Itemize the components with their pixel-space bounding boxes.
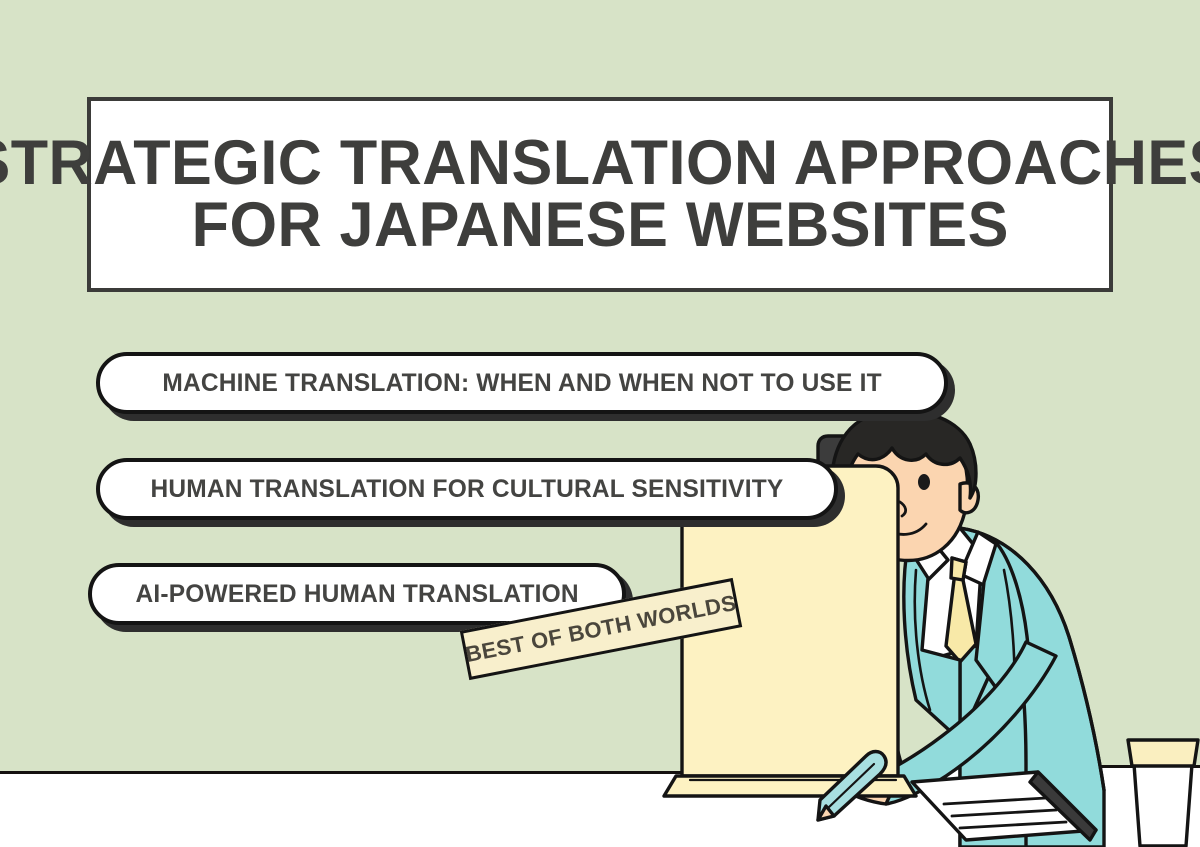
- infographic-poster: Strategic Translation Approaches For Jap…: [0, 0, 1200, 847]
- coffee-cup-body: [1134, 764, 1192, 846]
- title-line-2: For Japanese Websites: [191, 195, 1008, 257]
- approach-pill-label: AI-Powered Human Translation: [135, 580, 578, 609]
- approach-pill-machine-translation[interactable]: Machine Translation: When and When Not T…: [96, 352, 948, 414]
- approach-pill-label: Machine Translation: When and When Not T…: [162, 369, 881, 398]
- title-line-1: Strategic Translation Approaches: [0, 133, 1200, 195]
- approach-pill-human-translation[interactable]: Human Translation for Cultural Sensitivi…: [96, 458, 838, 520]
- necktie-knot: [951, 558, 966, 580]
- coffee-cup-lid: [1128, 740, 1198, 766]
- approach-pill-label: Human Translation for Cultural Sensitivi…: [151, 475, 784, 504]
- eye-right: [918, 474, 930, 490]
- poster-title-box: Strategic Translation Approaches For Jap…: [87, 97, 1113, 292]
